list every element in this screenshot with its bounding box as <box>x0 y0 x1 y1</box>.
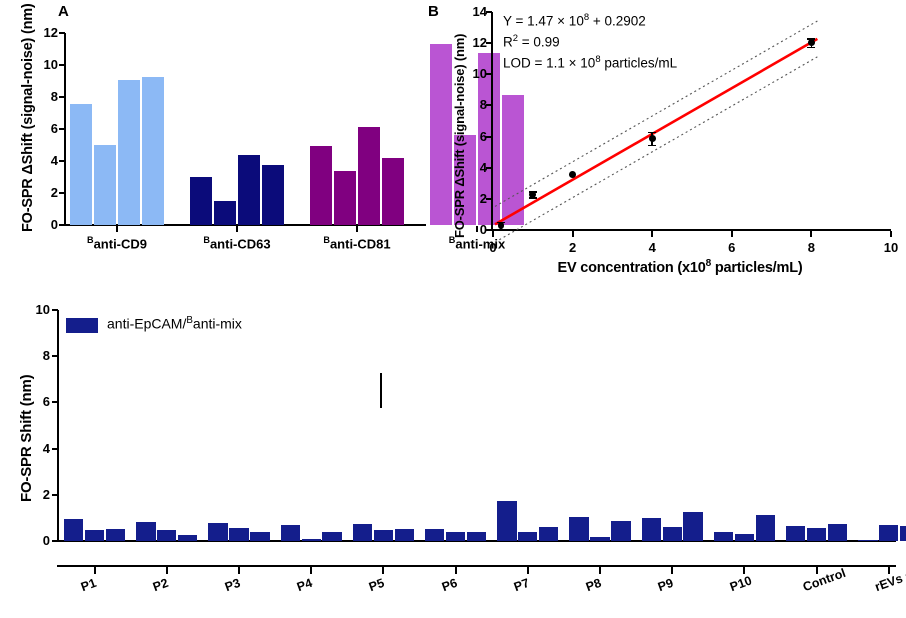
category-label-P6: P6 <box>440 576 459 594</box>
bar-anti-CD9-rep <box>94 145 116 225</box>
bar-P5-rep <box>374 530 393 541</box>
category-label-Control: Control <box>801 566 848 594</box>
category-label-P10: P10 <box>728 573 754 594</box>
bar-P2-rep <box>157 530 176 541</box>
bar-anti-CD81-rep <box>334 171 356 225</box>
bar-P1-rep <box>64 519 83 541</box>
panel-a: A FO-SPR ΔShift (signal-noise) (nm) 0246… <box>0 0 440 290</box>
legend-color-swatch <box>66 318 98 333</box>
y-tick-label: 4 <box>10 441 50 456</box>
category-label-superscript: B <box>203 235 210 245</box>
bar-P2-rep <box>178 535 197 541</box>
y-tick-label: 0 <box>10 533 50 548</box>
category-label-P7: P7 <box>512 576 531 594</box>
bar-P10-rep <box>714 532 733 541</box>
category-label-superscript: B <box>323 235 330 245</box>
category-label-P3: P3 <box>223 576 242 594</box>
category-label-text: anti-CD81 <box>330 236 391 251</box>
category-tick <box>94 567 96 574</box>
bar-P9-rep <box>683 512 702 541</box>
bar-rEVs-spiked-rep <box>879 525 898 541</box>
bar-anti-CD63-rep <box>238 155 260 225</box>
error-bar-cap-bottom <box>648 145 656 147</box>
bar-P9-rep <box>642 518 661 541</box>
panel-c: FO-SPR Shift (nm) 0246810 anti-EpCAM/Ban… <box>0 290 906 618</box>
category-label-P5: P5 <box>367 576 386 594</box>
bar-Control-rep <box>786 526 805 541</box>
category-tick <box>816 567 818 574</box>
category-label-P8: P8 <box>584 576 603 594</box>
bar-anti-CD9-rep <box>70 104 92 225</box>
bar-rEVs-spiked-rep <box>858 540 877 541</box>
category-tick <box>356 226 358 232</box>
y-tick-label: 8 <box>18 89 58 104</box>
legend-label: anti-EpCAM/Banti-mix <box>107 315 242 332</box>
bar-P2-rep <box>136 522 155 541</box>
category-tick <box>382 567 384 574</box>
bar-P1-rep <box>85 530 104 541</box>
category-tick <box>236 226 238 232</box>
category-label-P2: P2 <box>151 576 170 594</box>
bar-P3-rep <box>250 532 269 541</box>
category-label-text: anti-CD9 <box>94 236 147 251</box>
stray-line-artifact <box>380 373 382 408</box>
category-label-P4: P4 <box>295 576 314 594</box>
bar-anti-CD9-rep <box>142 77 164 225</box>
bar-anti-CD9-rep <box>118 80 140 225</box>
bar-anti-CD81-rep <box>382 158 404 225</box>
category-tick <box>671 567 673 574</box>
bar-anti-CD81-rep <box>358 127 380 225</box>
bar-anti-CD81-rep <box>310 146 332 225</box>
y-tick-label: 0 <box>18 217 58 232</box>
legend-label-prefix: anti-EpCAM/ <box>107 316 186 332</box>
bar-Control-rep <box>828 524 847 541</box>
bar-P6-rep <box>467 532 486 541</box>
category-tick <box>310 567 312 574</box>
panel-a-label: A <box>58 4 69 19</box>
bar-P6-rep <box>425 529 444 541</box>
error-bar-cap-bottom <box>807 47 815 49</box>
data-point <box>649 135 656 142</box>
bar-P7-rep <box>497 501 516 541</box>
legend-label-suffix: anti-mix <box>193 316 242 332</box>
category-label-P1: P1 <box>79 576 98 594</box>
category-label-P9: P9 <box>656 576 675 594</box>
bar-P9-rep <box>663 527 682 541</box>
panel-a-y-axis-line <box>64 33 66 225</box>
bar-P5-rep <box>395 529 414 541</box>
bar-P5-rep <box>353 524 372 541</box>
y-tick-label: 10 <box>18 57 58 72</box>
y-tick-label: 2 <box>10 487 50 502</box>
y-tick-label: 6 <box>10 394 50 409</box>
bar-P8-rep <box>611 521 630 541</box>
bar-P3-rep <box>229 528 248 541</box>
category-label-rEVs-spiked: rEVs spiked <box>873 557 906 595</box>
y-tick-label: 10 <box>10 302 50 317</box>
panel-c-category-axis-line <box>57 565 896 567</box>
category-tick <box>238 567 240 574</box>
data-point <box>808 39 815 46</box>
y-tick-label: 2 <box>18 185 58 200</box>
data-point <box>529 191 536 198</box>
bar-anti-CD63-rep <box>262 165 284 225</box>
y-tick-label: 12 <box>18 25 58 40</box>
bar-P10-rep <box>756 515 775 541</box>
bar-P7-rep <box>518 532 537 541</box>
category-label-superscript: B <box>87 235 94 245</box>
confidence-band-lower <box>495 57 817 242</box>
error-bar-cap-top <box>648 132 656 134</box>
category-label-anti-CD9: Banti-CD9 <box>57 235 177 251</box>
data-point <box>498 222 505 229</box>
panel-b-plot-area <box>425 0 906 290</box>
bar-anti-CD63-rep <box>190 177 212 225</box>
bar-anti-CD63-rep <box>214 201 236 225</box>
bar-rEVs-spiked-rep <box>900 526 906 541</box>
bar-P7-rep <box>539 527 558 541</box>
category-tick <box>455 567 457 574</box>
y-tick-label: 6 <box>18 121 58 136</box>
category-label-anti-CD81: Banti-CD81 <box>297 235 417 251</box>
category-tick <box>599 567 601 574</box>
category-label-text: anti-CD63 <box>210 236 271 251</box>
panel-b: B FO-SPR ΔShift (signal-noise) (nm) EV c… <box>425 0 906 290</box>
bar-P4-rep <box>302 539 321 541</box>
bar-P3-rep <box>208 523 227 541</box>
confidence-band-upper <box>495 21 817 206</box>
bar-Control-rep <box>807 528 826 541</box>
category-tick <box>888 567 890 574</box>
category-label-anti-CD63: Banti-CD63 <box>177 235 297 251</box>
y-tick-label: 8 <box>10 348 50 363</box>
category-tick <box>166 567 168 574</box>
category-tick <box>116 226 118 232</box>
bar-P4-rep <box>281 525 300 541</box>
bar-P1-rep <box>106 529 125 541</box>
error-bar-cap-bottom <box>497 229 505 231</box>
bar-P10-rep <box>735 534 754 541</box>
category-tick <box>743 567 745 574</box>
bar-P8-rep <box>569 517 588 541</box>
panel-c-y-axis-line <box>57 310 59 541</box>
y-tick-label: 4 <box>18 153 58 168</box>
category-tick <box>527 567 529 574</box>
bar-P8-rep <box>590 537 609 541</box>
bar-P4-rep <box>322 532 341 541</box>
bar-P6-rep <box>446 532 465 541</box>
